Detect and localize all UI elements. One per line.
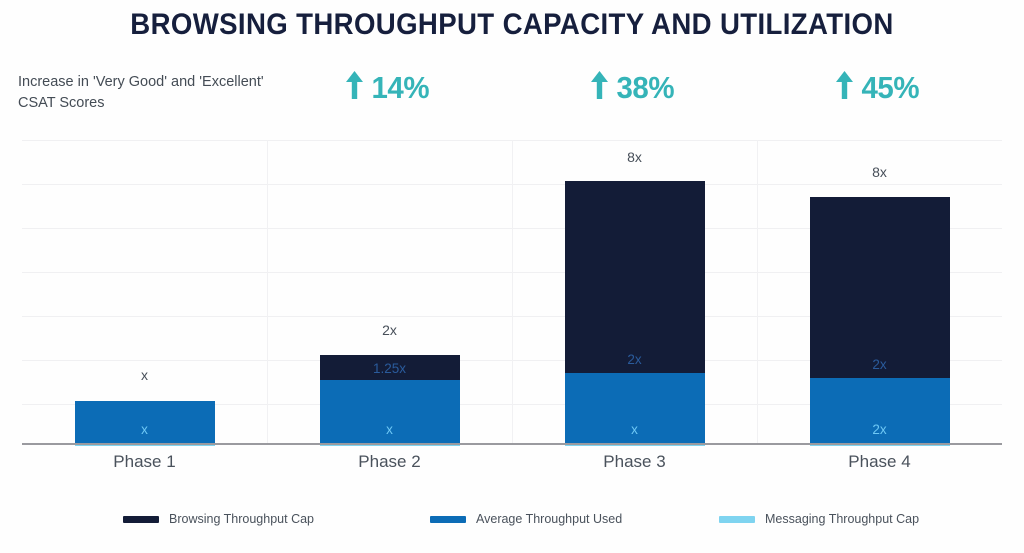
kpi-phase-4: 45% — [778, 70, 978, 108]
kpi-phase-2: 14% — [288, 70, 488, 108]
bar-segment-browsing-throughput-cap[interactable]: 2x — [565, 181, 705, 373]
x-axis-label-phase-4: Phase 4 — [757, 452, 1002, 472]
legend-item-messaging-throughput-cap[interactable]: Messaging Throughput Cap — [719, 512, 919, 526]
kpi-band: Increase in 'Very Good' and 'Excellent' … — [0, 68, 1024, 130]
stacked-bar[interactable]: 2x x — [565, 181, 705, 443]
bar-segment-label: x — [320, 422, 460, 437]
bar-total-label: 2x — [382, 322, 397, 338]
legend-label: Average Throughput Used — [476, 512, 622, 526]
bar-segment-average-throughput-used[interactable]: x — [320, 380, 460, 443]
x-axis-labels: Phase 1 Phase 2 Phase 3 Phase 4 — [22, 452, 1002, 482]
bar-total-label: 8x — [627, 149, 642, 165]
x-axis-line — [22, 443, 1002, 445]
legend-item-browsing-throughput-cap[interactable]: Browsing Throughput Cap — [123, 512, 314, 526]
bar-segment-average-throughput-used[interactable]: 2x — [810, 378, 950, 443]
x-axis-label-phase-1: Phase 1 — [22, 452, 267, 472]
bar-column-phase-2: 2x 1.25x x — [267, 140, 512, 443]
legend-label: Browsing Throughput Cap — [169, 512, 314, 526]
up-arrow-icon — [590, 70, 609, 108]
legend-label: Messaging Throughput Cap — [765, 512, 919, 526]
x-axis-label-phase-2: Phase 2 — [267, 452, 512, 472]
chart-plot-area: x x 2x 1.25x x 8x 2x x — [22, 140, 1002, 445]
bar-segment-average-throughput-used[interactable]: x — [75, 401, 215, 443]
chart-legend: Browsing Throughput Cap Average Throughp… — [0, 512, 1024, 532]
bar-segment-label: 2x — [810, 357, 950, 372]
bar-segment-browsing-throughput-cap[interactable]: 1.25x — [320, 355, 460, 380]
up-arrow-icon — [345, 70, 364, 108]
legend-swatch-icon — [719, 516, 755, 523]
legend-item-average-throughput-used[interactable]: Average Throughput Used — [430, 512, 622, 526]
stacked-bar[interactable]: 2x 2x — [810, 197, 950, 443]
kpi-phase-3: 38% — [533, 70, 733, 108]
page-title: BROWSING THROUGHPUT CAPACITY AND UTILIZA… — [41, 8, 983, 42]
stacked-bar[interactable]: x — [75, 401, 215, 443]
bar-segment-label: x — [75, 422, 215, 437]
bar-segment-label: 2x — [810, 422, 950, 437]
bar-segment-label: x — [565, 422, 705, 437]
x-axis-label-phase-3: Phase 3 — [512, 452, 757, 472]
bar-segment-browsing-throughput-cap[interactable]: 2x — [810, 197, 950, 378]
bar-total-label: x — [141, 367, 148, 383]
legend-swatch-icon — [123, 516, 159, 523]
bar-segment-label: 1.25x — [320, 361, 460, 376]
up-arrow-icon — [835, 70, 854, 108]
kpi-value: 38% — [617, 70, 675, 106]
kpi-value: 45% — [862, 70, 920, 106]
bar-segment-label: 2x — [565, 352, 705, 367]
legend-swatch-icon — [430, 516, 466, 523]
kpi-value: 14% — [372, 70, 430, 106]
bar-column-phase-3: 8x 2x x — [512, 140, 757, 443]
bar-segment-average-throughput-used[interactable]: x — [565, 373, 705, 443]
bar-column-phase-4: 8x 2x 2x — [757, 140, 1002, 443]
bar-column-phase-1: x x — [22, 140, 267, 443]
bar-total-label: 8x — [872, 164, 887, 180]
stacked-bar[interactable]: 1.25x x — [320, 355, 460, 443]
subtitle: Increase in 'Very Good' and 'Excellent' … — [18, 72, 268, 114]
